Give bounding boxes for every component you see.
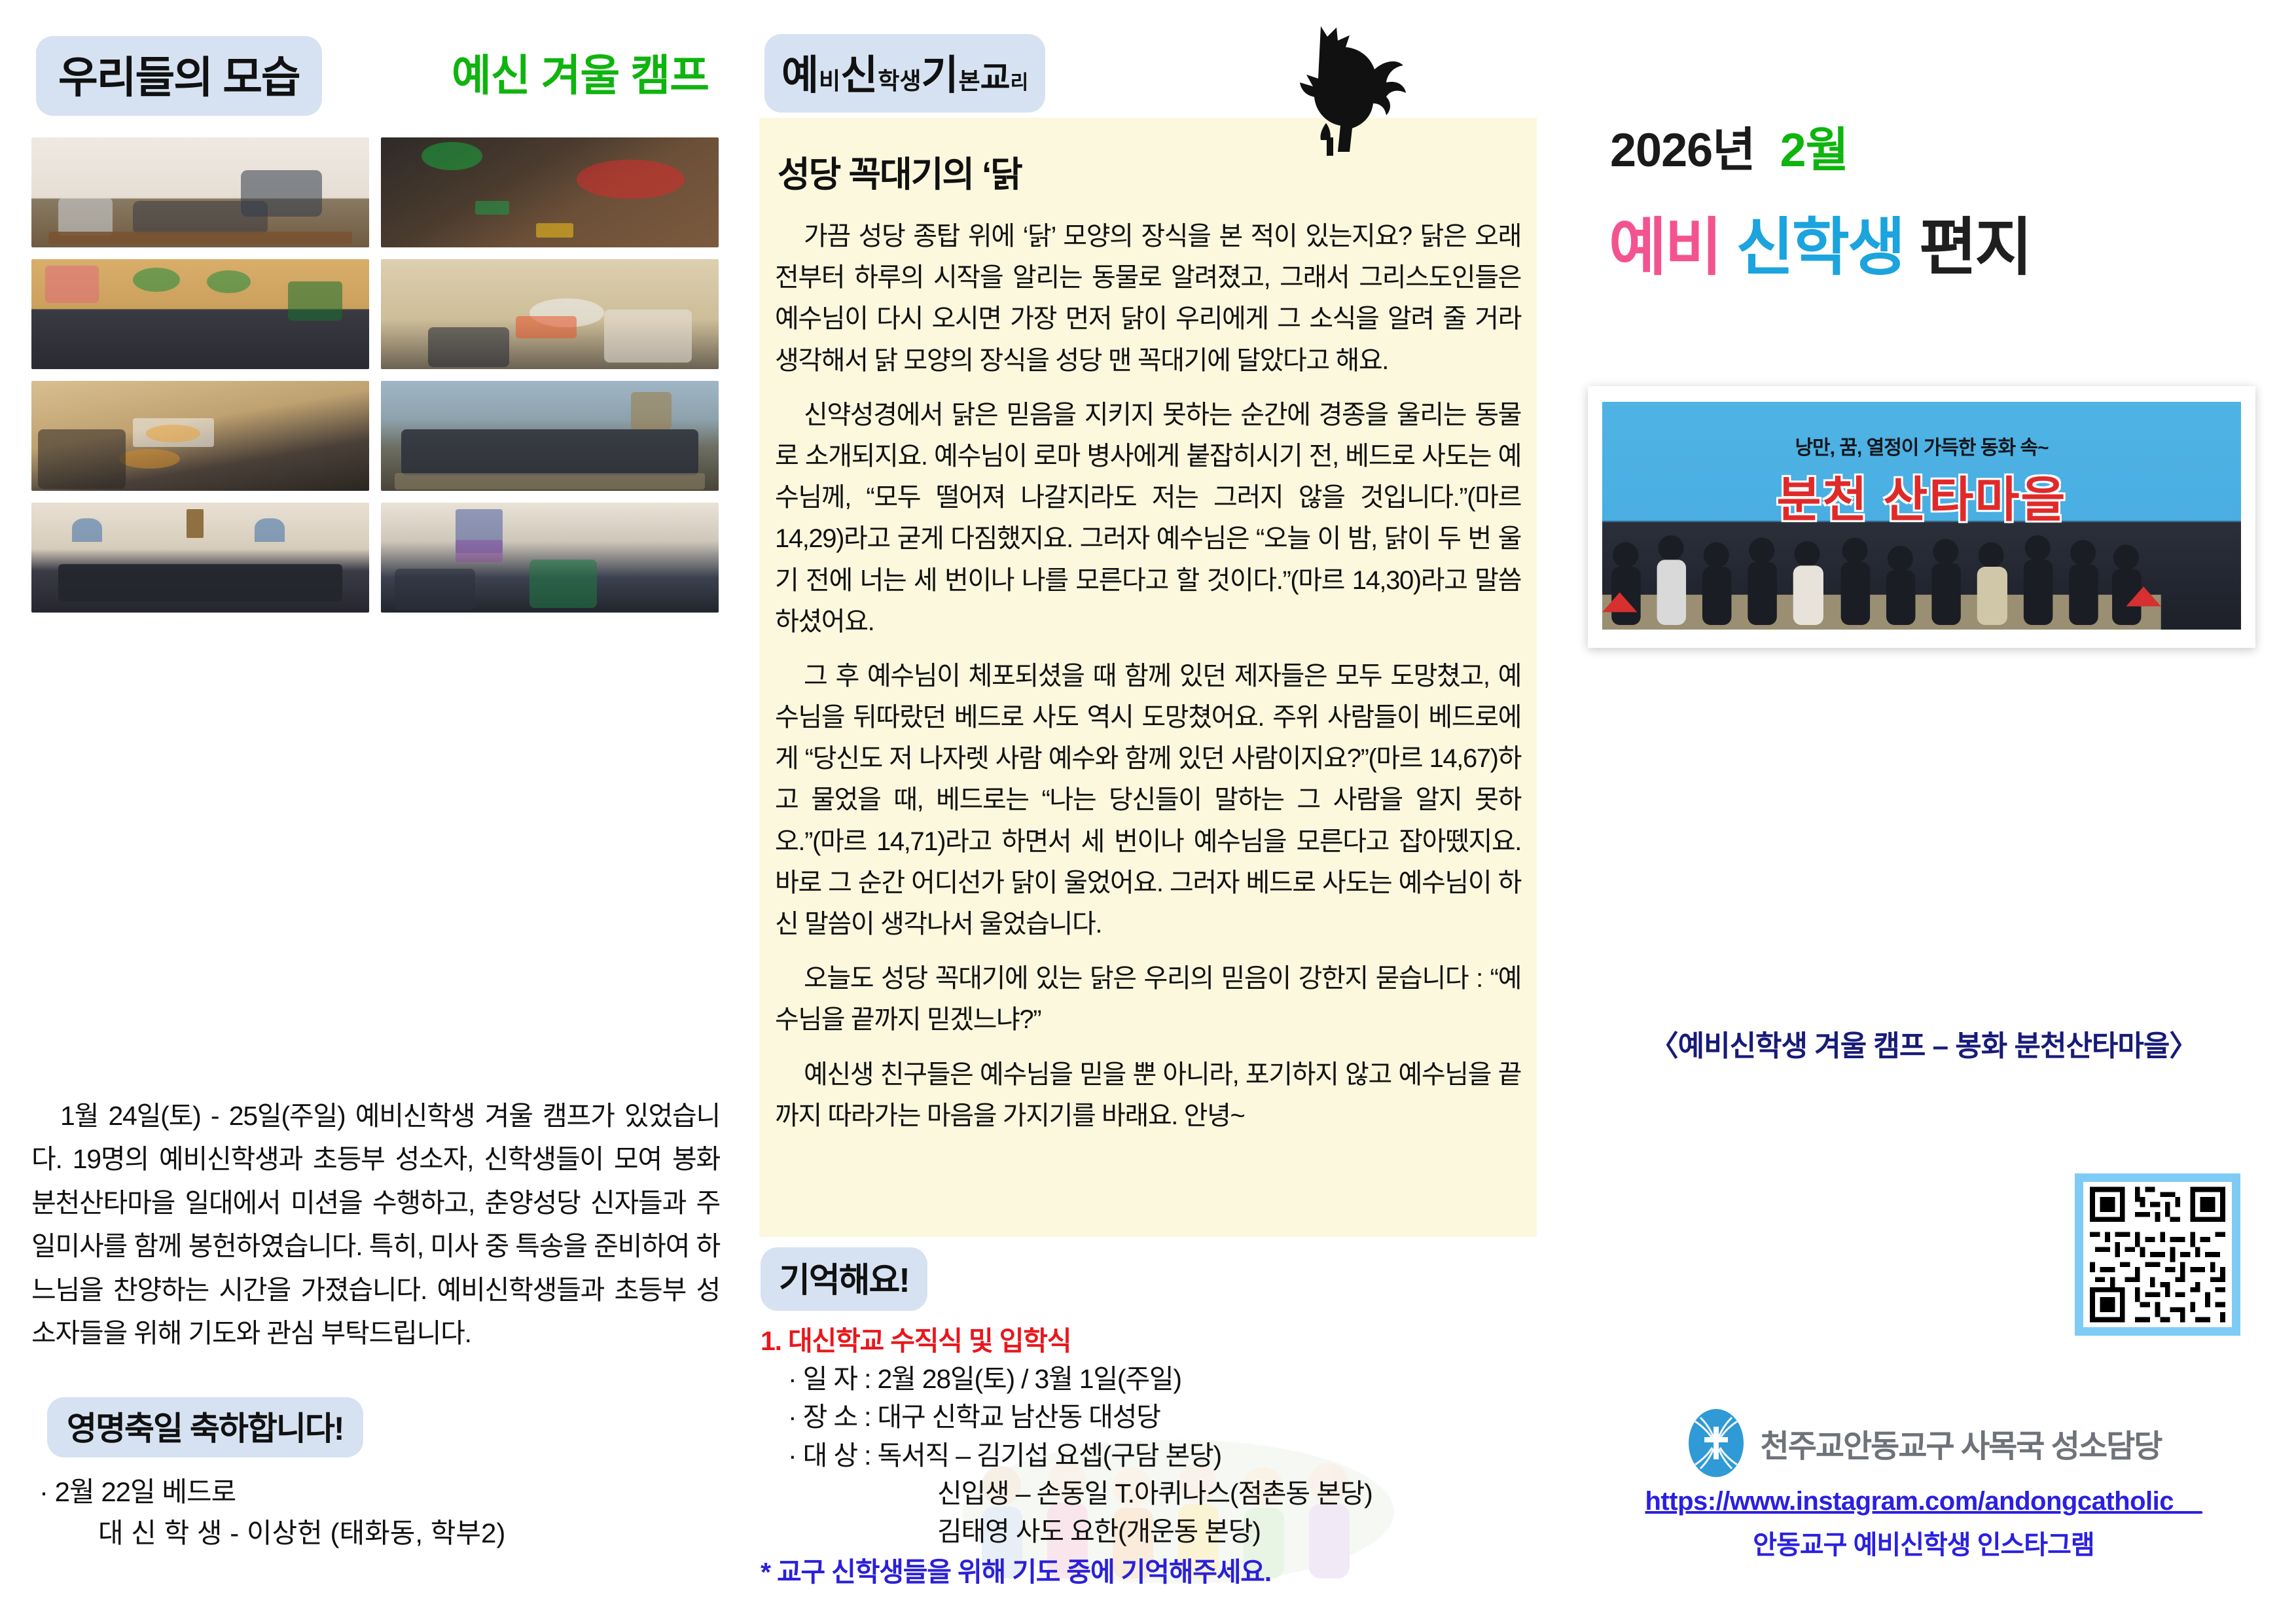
article-paragraph: 가끔 성당 종탑 위에 ‘닭’ 모양의 장식을 본 적이 있는지요? 닭은 오래…	[775, 216, 1521, 382]
article-paragraph: 예신생 친구들은 예수님을 믿을 뿐 아니라, 포기하지 않고 예수님을 끝까지…	[775, 1054, 1521, 1137]
camp-report-text: 1월 24일(토) - 25일(주일) 예비신학생 겨울 캠프가 있었습니다. …	[31, 1094, 720, 1355]
article-paragraph: 신약성경에서 닭은 믿음을 지키지 못하는 순간에 경종을 울리는 동물로 소개…	[775, 395, 1521, 643]
group-photo-caption: 〈예비신학생 겨울 캠프 – 봉화 분천산타마을〉	[1551, 1022, 2296, 1064]
catechism-part-1: 예	[781, 53, 819, 98]
masthead-part-sinhaksaeng: 신학생	[1736, 213, 1903, 283]
feast-day-header: 영명축일 축하합니다!	[47, 1397, 363, 1457]
article-title: 성당 꼭대기의 ‘닭	[778, 145, 1022, 197]
masthead-part-pyeonji: 편지	[1919, 213, 2031, 283]
remember-prayer-note: * 교구 신학생들을 위해 기도 중에 기억해주세요.	[761, 1553, 1546, 1591]
catechism-part-6: 본	[959, 67, 980, 94]
group-photo-frame: 낭만, 꿈, 열정이 가득한 동화 속~ 분천 산타마을	[1588, 386, 2255, 648]
instagram-label: 안동교구 예비신학생 인스타그램	[1551, 1524, 2296, 1561]
left-column: 우리들의 모습 예신 겨울 캠프	[0, 0, 746, 1623]
photo-group-freeze-game	[31, 137, 369, 247]
article-body: 가끔 성당 종탑 위에 ‘닭’ 모양의 장식을 본 적이 있는지요? 닭은 오래…	[775, 216, 1521, 1150]
article-paragraph: 오늘도 성당 꼭대기에 있는 닭은 우리의 믿음이 강한지 묻습니다 : “예수…	[775, 958, 1521, 1041]
remember-header: 기억해요!	[761, 1247, 927, 1311]
banner-village-name: 분천 산타마을	[1602, 461, 2241, 531]
feast-day-date: · 2월 22일 베드로	[39, 1471, 707, 1512]
photo-pizza-chicken-meal	[31, 381, 369, 491]
masthead-part-yebi: 예비	[1609, 213, 1721, 283]
group-crowd	[1602, 525, 2161, 630]
organization-row: 천주교안동교구 사목국 성소담당	[1551, 1407, 2296, 1479]
camp-title: 예신 겨울 캠프	[452, 41, 709, 103]
remember-detail-person: · 대 상 : 독서직 – 김기섭 요셉(구담 본당)	[761, 1436, 1546, 1474]
qr-code-icon[interactable]	[2083, 1182, 2232, 1327]
instagram-url[interactable]: https://www.instagram.com/andongcatholic…	[1551, 1487, 2296, 1516]
masthead-title: 예비 신학생 편지	[1609, 196, 2031, 287]
photo-christmas-room-table	[31, 259, 369, 369]
photo-balloon-game-hall	[381, 259, 719, 369]
qr-code-frame[interactable]	[2075, 1173, 2240, 1336]
photo-mass-communion-church	[381, 503, 719, 613]
banner-slogan: 낭만, 꿈, 열정이 가득한 동화 속~	[1602, 431, 2241, 460]
issue-year: 2026년	[1610, 124, 1755, 177]
group-photo: 낭만, 꿈, 열정이 가득한 동화 속~ 분천 산타마을	[1602, 402, 2241, 630]
article-paragraph: 그 후 예수님이 체포되셨을 때 함께 있던 제자들은 모두 도망쳤고, 예수님…	[775, 656, 1521, 945]
remember-item-title: 1. 대신학교 수직식 및 입학식	[761, 1322, 1546, 1360]
catechism-header: 예비신학생기본교리	[764, 34, 1045, 113]
catechism-part-5: 기	[921, 53, 958, 98]
remember-detail-newcomer-2: 김태영 사도 요한(개운동 본당)	[761, 1512, 1546, 1550]
diocese-logo-icon	[1686, 1407, 1746, 1479]
feast-day-list: · 2월 22일 베드로 대 신 학 생 - 이상헌 (태화동, 학부2)	[39, 1471, 707, 1554]
photo-group-outdoor-statue	[381, 381, 719, 491]
remember-header-label: 기억해요!	[761, 1247, 927, 1311]
catechism-header-label: 예비신학생기본교리	[764, 34, 1045, 113]
right-column: 2026년 2월 예비 신학생 편지 낭만, 꿈, 열정이 가득한 동화 속~ …	[1551, 0, 2296, 1623]
newsletter-page: 우리들의 모습 예신 겨울 캠프	[0, 0, 2296, 1623]
middle-column: 예비신학생기본교리 성당 꼭대기의 ‘닭 가끔 성당 종탑 위에 ‘닭’ 모양의…	[746, 0, 1551, 1623]
remember-detail-date: · 일 자 : 2월 28일(토) / 3월 1일(주일)	[761, 1360, 1546, 1398]
organization-name: 천주교안동교구 사목국 성소담당	[1761, 1420, 2162, 1466]
photo-grid	[31, 137, 719, 613]
feast-day-header-label: 영명축일 축하합니다!	[47, 1397, 363, 1457]
catechism-part-3: 신	[840, 53, 878, 98]
our-photos-header: 우리들의 모습	[36, 36, 322, 116]
catechism-part-2: 비	[819, 67, 840, 94]
rooster-icon	[1244, 12, 1414, 156]
feast-day-person: 대 신 학 생 - 이상헌 (태화동, 학부2)	[39, 1512, 707, 1554]
issue-date: 2026년 2월	[1610, 111, 1848, 180]
catechism-part-4: 학생	[878, 67, 921, 94]
photo-card-game-floor	[381, 137, 719, 247]
catechism-part-7: 교	[980, 60, 1011, 96]
issue-month: 2월	[1780, 124, 1848, 177]
remember-detail-newcomer-1: 신입생 – 손동일 T.아퀴나스(점촌동 본당)	[761, 1474, 1546, 1512]
remember-list: 1. 대신학교 수직식 및 입학식 · 일 자 : 2월 28일(토) / 3월…	[761, 1322, 1546, 1592]
remember-detail-place: · 장 소 : 대구 신학교 남산동 대성당	[761, 1398, 1546, 1436]
photo-mass-choir-church	[31, 503, 369, 613]
our-photos-header-label: 우리들의 모습	[36, 36, 322, 116]
catechism-part-8: 리	[1011, 72, 1029, 94]
